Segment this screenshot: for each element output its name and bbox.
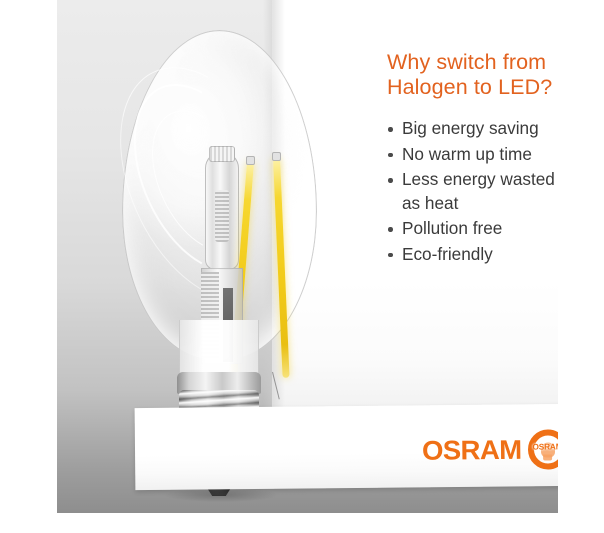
led-filament-cap-right: [272, 152, 281, 161]
headline: Why switch from Halogen to LED?: [387, 50, 558, 100]
led-lead-wire-right: [272, 372, 280, 400]
list-item: Big energy saving: [387, 117, 558, 141]
osram-logo: OSRAM OSRAM: [423, 427, 558, 472]
list-item: Less energy wasted as heat: [387, 168, 558, 215]
list-item: No warm up time: [387, 143, 558, 167]
promo-image: Why switch from Halogen to LED? Big ener…: [0, 0, 604, 533]
halogen-filament-coil: [215, 190, 229, 242]
product-photo: Why switch from Halogen to LED? Big ener…: [57, 0, 558, 513]
osram-wordmark: OSRAM: [422, 436, 522, 464]
marketing-copy: Why switch from Halogen to LED? Big ener…: [387, 50, 558, 268]
led-filament-cap-left: [246, 156, 255, 165]
halogen-capsule-pinch: [209, 146, 235, 162]
osram-badge-icon: OSRAM: [527, 429, 558, 469]
list-item: Pollution free: [387, 217, 558, 241]
benefits-list: Big energy saving No warm up time Less e…: [387, 117, 558, 266]
list-item: Eco-friendly: [387, 243, 558, 267]
lamp-drop-shadow: [165, 488, 277, 502]
badge-bulb-base-icon: [543, 454, 552, 460]
badge-label: OSRAM: [532, 442, 558, 451]
